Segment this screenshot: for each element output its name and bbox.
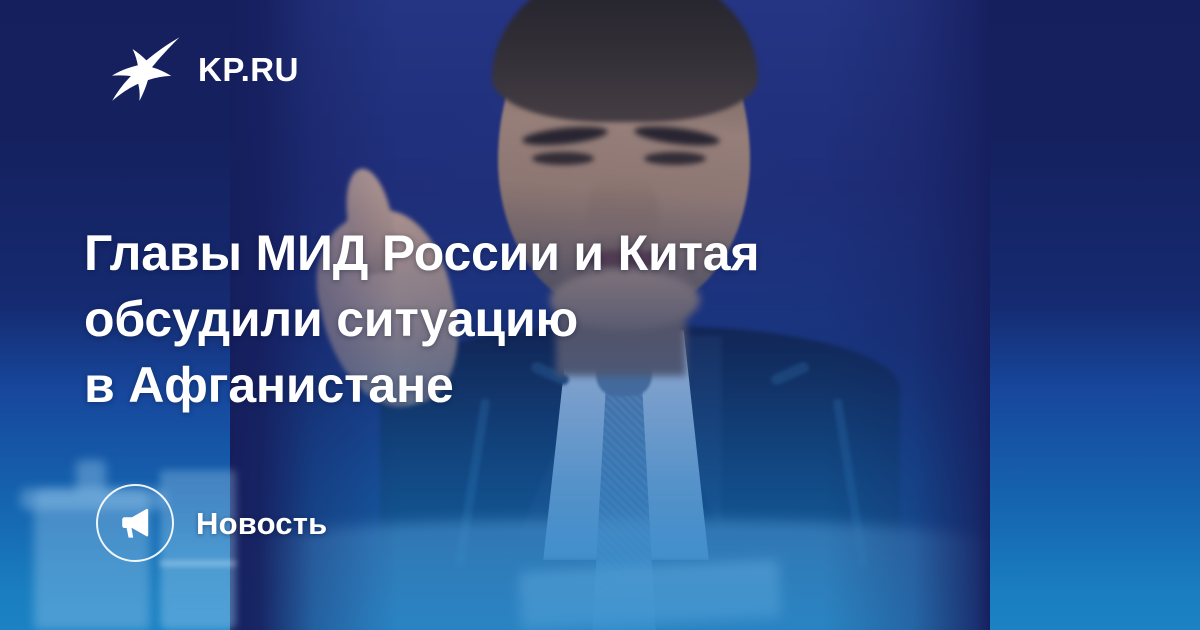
headline-line-3: в Афганистане [84,352,944,418]
badge-label: Новость [196,508,327,539]
headline-line-2: обсудили ситуацию [84,286,944,352]
share-card: KP.RU Главы МИД России и Китая обсудили … [0,0,1200,630]
page-title: Главы МИД России и Китая обсудили ситуац… [84,220,944,418]
headline-line-1: Главы МИД России и Китая [84,220,944,286]
site-header[interactable]: KP.RU [106,36,299,102]
megaphone-icon [96,484,174,562]
status-badge: Новость [96,484,327,562]
swallow-bird-icon [106,36,180,102]
brand-name: KP.RU [198,53,299,86]
